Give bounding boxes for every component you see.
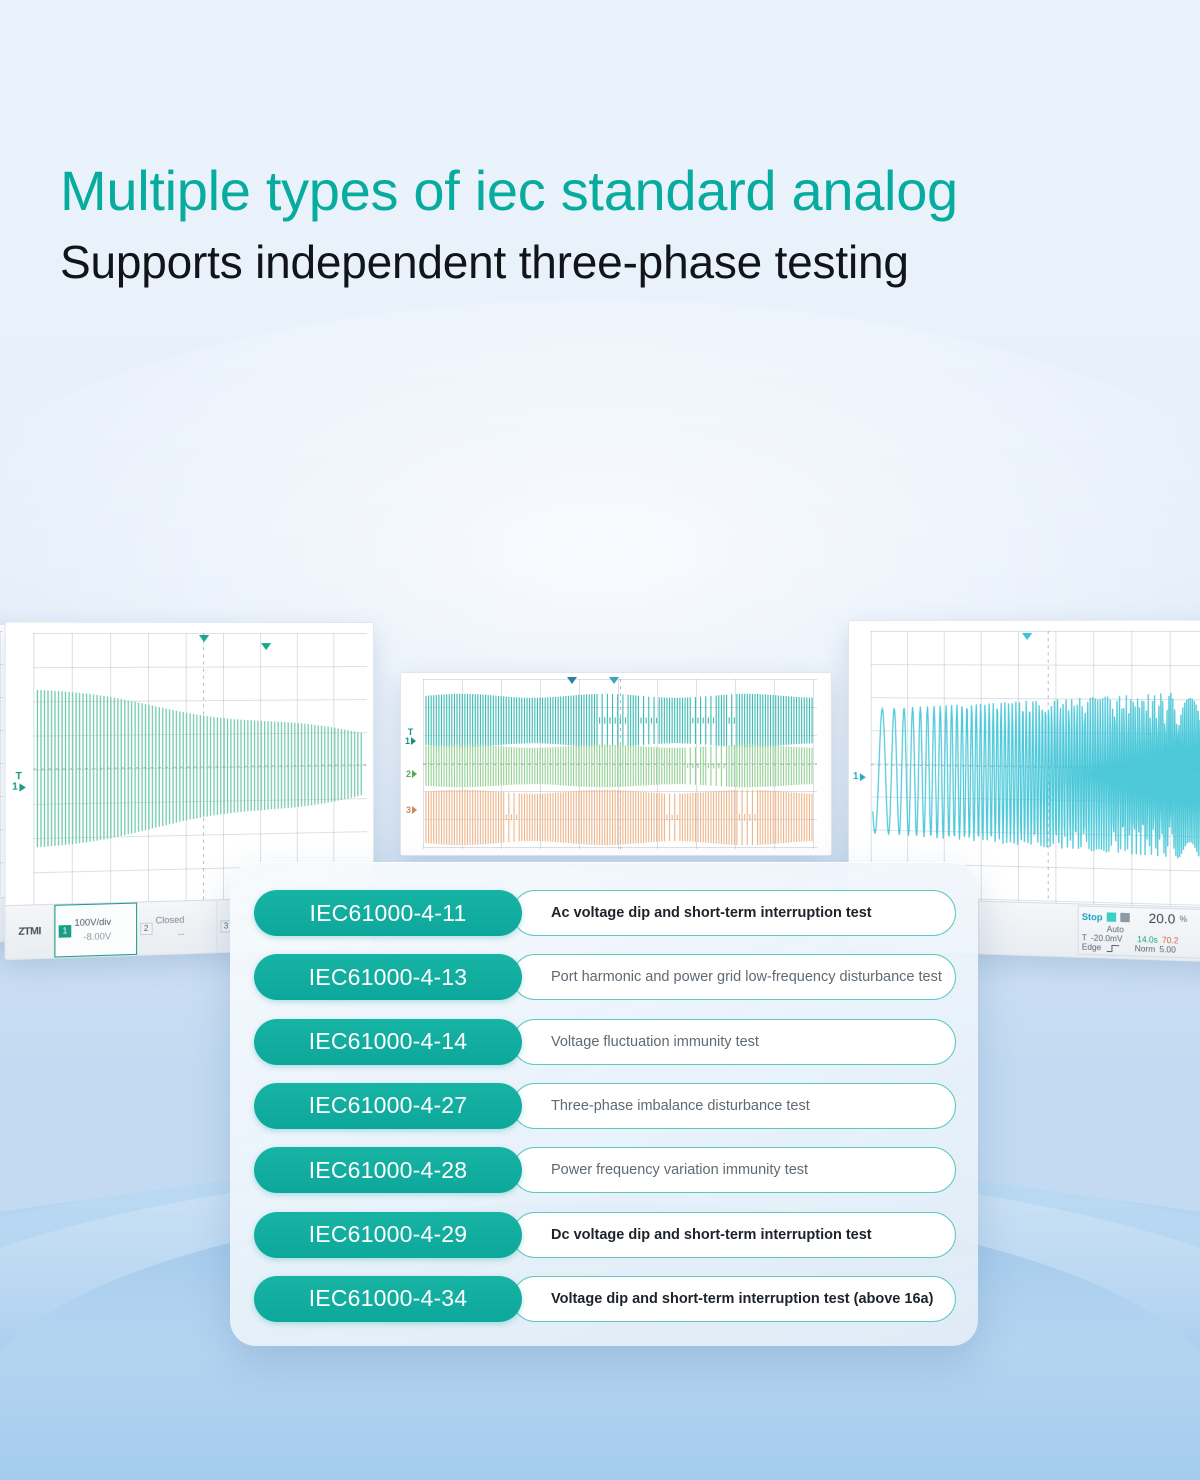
page-subtitle: Supports independent three-phase testing [60,237,1140,289]
channel-arrow-icon [411,737,416,745]
channel-arrow-icon [19,783,25,791]
trigger-time2: 70.2 [1162,936,1178,946]
trigger-position-marker-b [261,643,271,650]
scope-left-channel-1[interactable]: 1 100V/div -8.00V [54,903,136,958]
grid-lines [0,631,3,896]
page-title: Multiple types of iec standard analog [60,160,1140,223]
trigger-position-marker-a [199,635,209,642]
right-channel-number: 1 [853,771,859,782]
waveform-middle-three-phase [423,679,817,849]
standard-description-4: Three-phase imbalance disturbance test [512,1083,956,1129]
standard-code-badge-5[interactable]: IEC61000-4-28 [254,1147,522,1193]
standard-code-badge-6[interactable]: IEC61000-4-29 [254,1212,522,1258]
headings-block: Multiple types of iec standard analog Su… [60,160,1140,288]
channel-2-state: Closed [155,913,184,928]
scope-left-channel-2[interactable]: 2 Closed -- [137,900,217,954]
trigger-level-label: T [1082,933,1087,942]
promo-banner: T 1 ZTMI 1 100V/div -8.00V [0,0,1200,1480]
trigger-status[interactable]: Stop [1082,911,1103,922]
scope-middle-inner: T 1 2 3 [401,673,831,855]
channel-arrow-icon [859,773,865,781]
trigger-slope: Edge [1082,942,1101,952]
standard-row-1[interactable]: Ac voltage dip and short-term interrupti… [254,890,956,936]
trigger-position-marker [1022,633,1032,640]
scope-left-channel-number: 1 [12,781,18,793]
standard-row-6[interactable]: Dc voltage dip and short-term interrupti… [254,1212,956,1258]
standard-description-3: Voltage fluctuation immunity test [512,1019,956,1065]
scope-brand-logo: ZTMI [6,905,55,959]
standard-code-badge-2[interactable]: IEC61000-4-13 [254,954,522,1000]
channel-1-offset: -8.00V [74,929,111,944]
standard-description-6: Dc voltage dip and short-term interrupti… [512,1212,956,1258]
scope-left-channel-marker: T 1 [12,773,25,793]
scope-middle-grid [423,679,817,849]
channel-arrow-icon [412,806,417,814]
standard-code-badge-7[interactable]: IEC61000-4-34 [254,1276,522,1322]
memory-indicator-icon [1120,913,1129,923]
trigger-T-label: T [408,729,414,736]
scope-right-channel-marker: 1 [853,771,865,782]
channel-2-offset: -- [155,927,184,942]
standard-row-5[interactable]: Power frequency variation immunity test … [254,1147,956,1193]
standard-row-7[interactable]: Voltage dip and short-term interruption … [254,1276,956,1322]
trigger-T-label: T [15,773,21,781]
middle-channel-2-number: 2 [406,769,411,779]
trigger-timebase: 5.00 [1159,945,1175,955]
standard-code-badge-1[interactable]: IEC61000-4-11 [254,890,522,936]
standard-description-2: Port harmonic and power grid low-frequen… [512,954,956,1000]
acquire-indicator-icon [1107,912,1116,922]
standard-code-badge-4[interactable]: IEC61000-4-27 [254,1083,522,1129]
trigger-mode: Auto [1107,925,1124,935]
standard-row-4[interactable]: Three-phase imbalance disturbance test I… [254,1083,956,1129]
scope-middle-channel-marker-1: T 1 [405,729,416,746]
channel-1-number: 1 [59,924,72,937]
oscilloscope-screen-middle: T 1 2 3 [400,672,832,856]
standard-code-badge-3[interactable]: IEC61000-4-14 [254,1019,522,1065]
standard-description-1: Ac voltage dip and short-term interrupti… [512,890,956,936]
channel-arrow-icon [412,770,417,778]
standard-row-3[interactable]: Voltage fluctuation immunity test IEC610… [254,1019,956,1065]
channel-1-scale: 100V/div [74,916,111,931]
trigger-coupling: Norm [1135,944,1156,954]
trigger-value: 20.0 [1149,910,1176,926]
scope-partial-grid [0,631,3,896]
scope-middle-channel-marker-3: 3 [406,805,417,815]
trigger-position-marker-b [609,677,619,684]
trigger-position-marker-a [567,677,577,684]
trigger-panel[interactable]: Stop 20.0 % Auto T -20.0mV 14.0s 70.2 [1078,905,1200,959]
channel-2-number: 2 [140,922,152,935]
trigger-unit: % [1180,914,1188,924]
standard-description-7: Voltage dip and short-term interruption … [512,1276,956,1322]
middle-channel-1-number: 1 [405,736,410,746]
standards-card: Ac voltage dip and short-term interrupti… [230,862,978,1346]
middle-channel-3-number: 3 [406,805,411,815]
edge-slope-icon [1105,944,1120,953]
standard-description-5: Power frequency variation immunity test [512,1147,956,1193]
standard-row-2[interactable]: Port harmonic and power grid low-frequen… [254,954,956,1000]
scope-middle-channel-marker-2: 2 [406,769,417,779]
